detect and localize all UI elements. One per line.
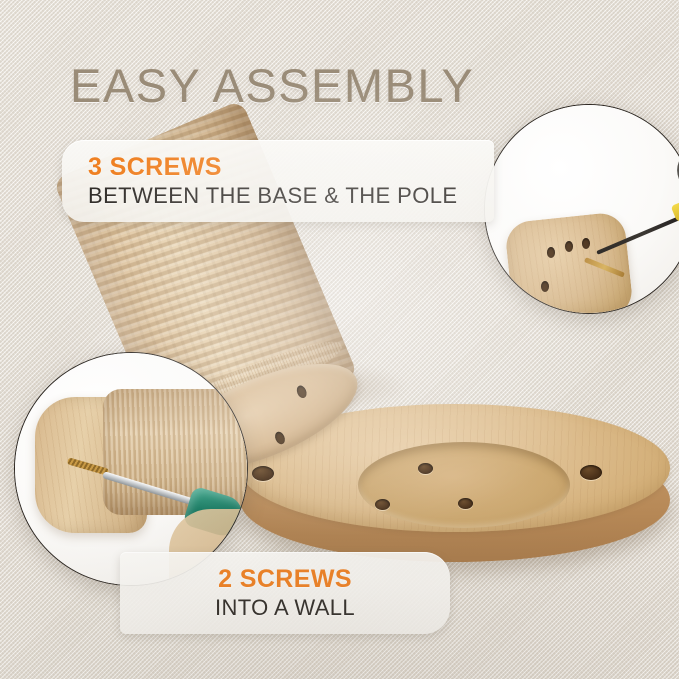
base-seat-screw-hole-1 <box>418 463 433 474</box>
callout-headline: 3 SCREWS <box>88 154 468 180</box>
inset-cap-hole-3 <box>582 238 590 249</box>
inset-cap-hole-2 <box>565 241 573 252</box>
callout-headline: 2 SCREWS <box>218 566 352 592</box>
callout-text-group: 2 SCREWS INTO A WALL <box>120 552 450 634</box>
inset-pole-end-cap <box>504 211 634 314</box>
inset-cap-hole-1 <box>547 247 555 258</box>
callout-subline: BETWEEN THE BASE & THE POLE <box>88 183 468 208</box>
callout-subline: INTO A WALL <box>215 595 355 620</box>
infographic-canvas: EASY ASSEMBLY 3 SCREWS BETWEEN THE BASE … <box>0 0 679 679</box>
callout-text-group: 3 SCREWS BETWEEN THE BASE & THE POLE <box>62 140 494 222</box>
inset-screwdriver-into-wall-base <box>14 352 248 586</box>
callout-base-to-wall: 2 SCREWS INTO A WALL <box>120 552 450 634</box>
base-seat-screw-hole-2 <box>375 499 390 510</box>
base-pole-seat-recess <box>358 442 570 528</box>
base-seat-screw-hole-3 <box>458 498 473 509</box>
callout-pole-to-base: 3 SCREWS BETWEEN THE BASE & THE POLE <box>62 140 494 222</box>
inset-cap-hole-4 <box>541 281 549 292</box>
page-title: EASY ASSEMBLY <box>70 58 474 113</box>
base-wall-screw-hole-right <box>580 465 602 480</box>
inset-screwdriver-into-pole-cap <box>484 104 679 314</box>
